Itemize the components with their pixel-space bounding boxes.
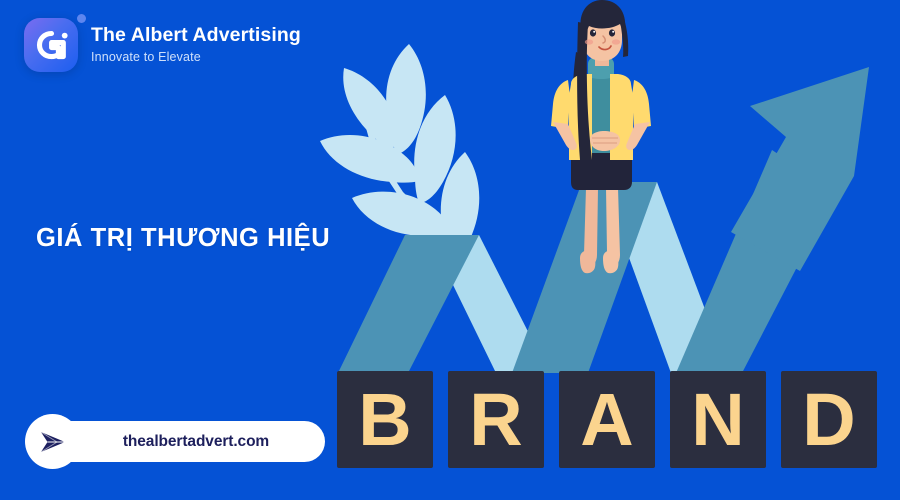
brand-block-2 (559, 371, 655, 468)
brand-blocks (337, 371, 877, 468)
brand-block-0 (337, 371, 433, 468)
website-url[interactable]: thealbertadvert.com (33, 433, 325, 451)
logo-accent-dot (77, 14, 86, 23)
brand-header[interactable]: The Albert Advertising Innovate to Eleva… (24, 18, 301, 72)
poster-canvas: B R A N D The Albert Advertising Innovat… (0, 0, 900, 500)
brand-tagline: Innovate to Elevate (91, 50, 301, 66)
brand-title: The Albert Advertising (91, 25, 301, 47)
website-pill[interactable]: thealbertadvert.com (33, 421, 325, 462)
brand-block-1 (448, 371, 544, 468)
brand-block-4 (781, 371, 877, 468)
page-title: GIÁ TRỊ THƯƠNG HIỆU (36, 224, 330, 253)
ai-monogram-app-icon[interactable] (24, 18, 78, 72)
brand-block-3 (670, 371, 766, 468)
